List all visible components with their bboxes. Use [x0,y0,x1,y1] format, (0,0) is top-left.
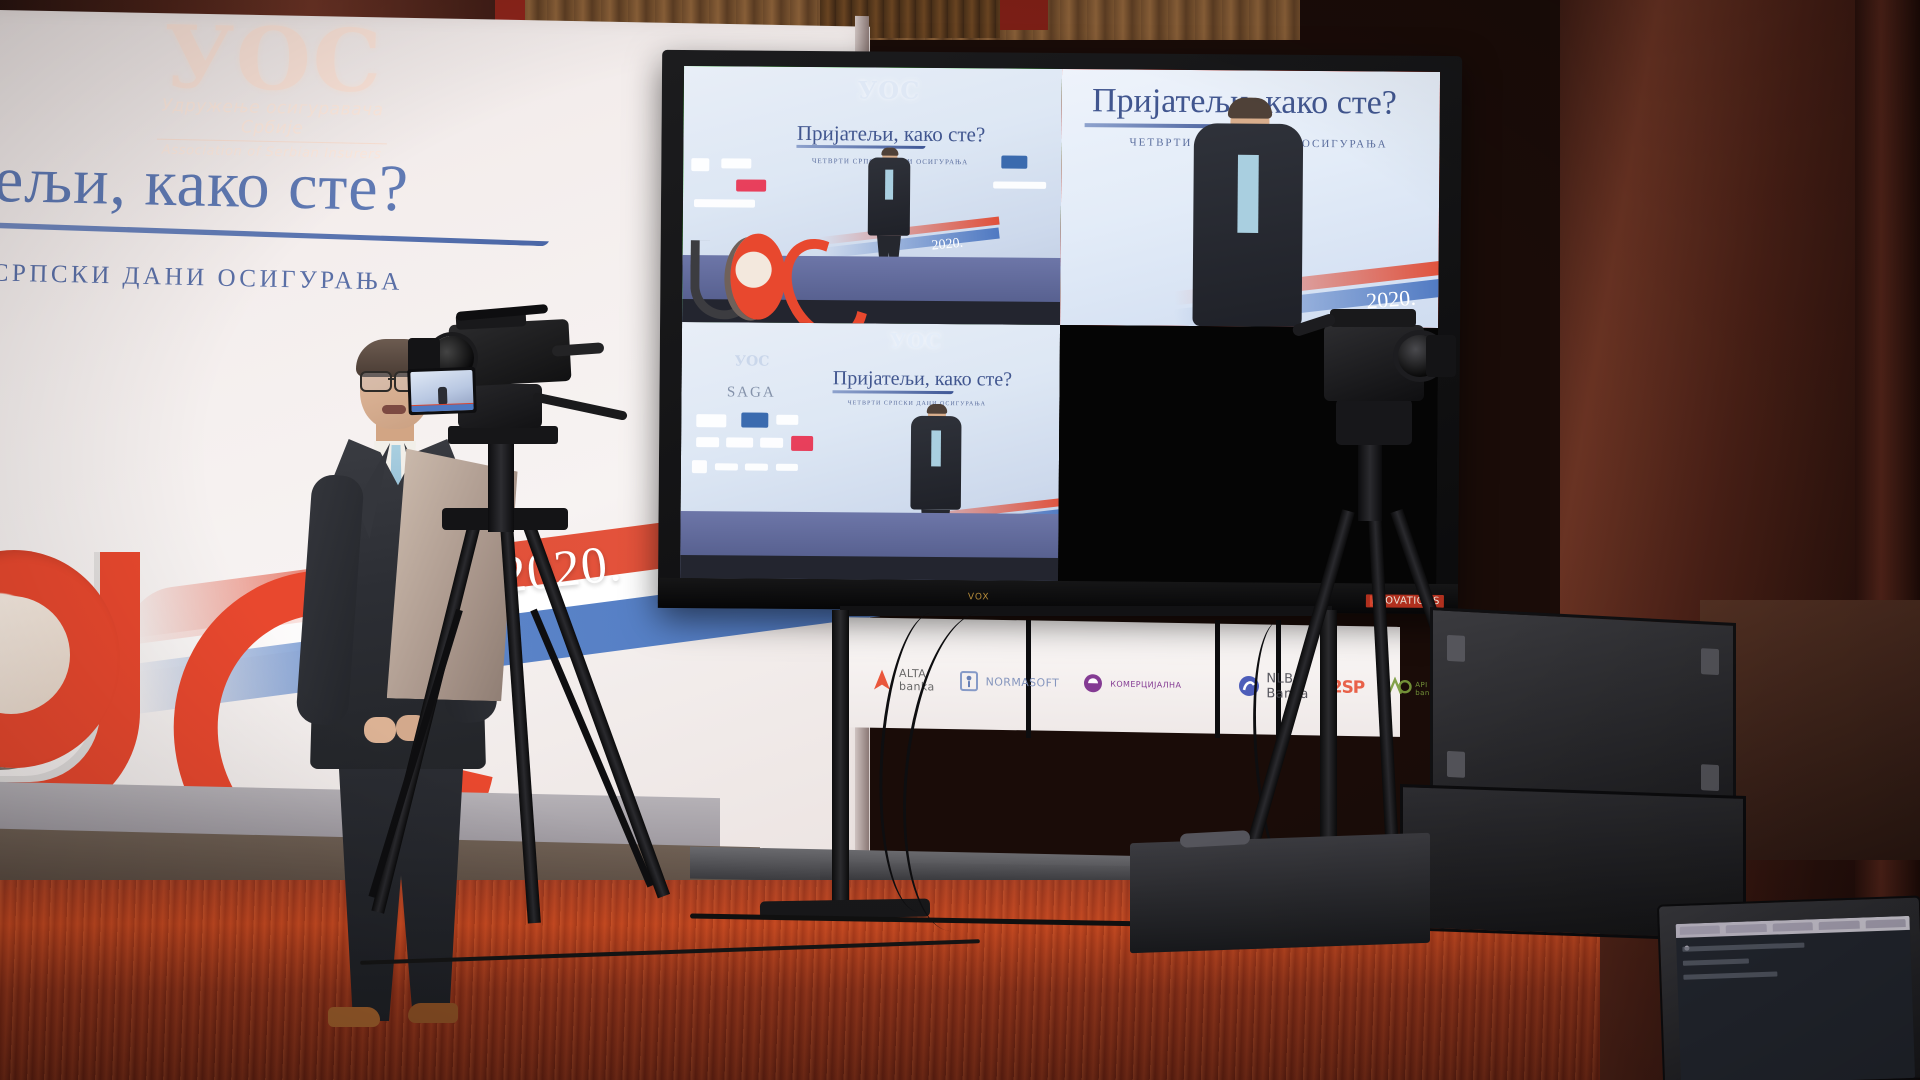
laptop-tab-strip [1676,916,1910,935]
feed-presenter-tie [1238,155,1259,233]
tripod-leg [522,522,670,899]
feed-sponsor-block [775,464,798,472]
center-camera-rig [400,310,760,890]
laptop-screen[interactable] [1676,916,1916,1080]
laptop-content-row [1682,943,1804,952]
video-feed-close-shot: Пријатељи, како сте? ЧЕТВРТИ СРПСКИ ДАНИ… [1060,69,1440,328]
feed-presenter [1193,97,1304,327]
feed-sponsor-block [691,158,710,171]
laptop-tab[interactable] [1772,922,1813,931]
presenter-shoe-left [328,1007,380,1027]
video-pane-top-left[interactable]: УОС Пријатељи, како сте? ЧЕТВРТИ СРПСКИ … [682,66,1062,325]
tripod-leg-brace [530,609,654,888]
feed-letter-c [765,224,885,325]
feed-presenter-body [1193,123,1304,327]
feed-sponsor-block [993,181,1046,189]
camera-lcd-stripe-blue [412,404,474,412]
feed-presenter-hair [927,403,947,413]
video-pane-top-right[interactable]: Пријатељи, како сте? ЧЕТВРТИ СРПСКИ ДАНИ… [1060,69,1440,328]
laptop-content-row [1683,959,1749,966]
laptop-content-row [1683,972,1777,980]
feed-sponsor-block [760,438,783,448]
eyeglasses-bridge-icon [388,378,395,380]
tripod-fluid-head [1336,399,1412,445]
stage-scene: УОС Удружење осигуравача Србије Associat… [0,0,1920,1080]
control-laptop[interactable] [1657,895,1920,1080]
sponsor-logo-komercijalna: КОМЕРЦИЈАЛНА [1081,671,1181,697]
tripod-pan-handle[interactable] [532,392,628,421]
feed-year: 2020. [931,236,964,255]
equipment-case [1130,833,1430,953]
uos-logo-serbian-line: Удружење осигуравача Србије [127,95,418,141]
feed-title: Пријатељи, како сте? [797,121,985,147]
laptop-tab[interactable] [1819,921,1860,930]
feed-title: Пријатељи, како сте? [833,367,1012,391]
feed-presenter-tie [932,430,942,466]
monitor-stand-crossbar [840,606,1332,616]
feed-uos-logo: УОС [858,75,921,104]
feed-presenter-hair [881,148,898,156]
case-latch[interactable] [1447,751,1465,778]
feed-sponsor-block [791,436,814,452]
feed-presenter-hair [1227,98,1271,119]
laptop-tab[interactable] [1680,925,1721,934]
feed-sponsor-block [736,179,766,192]
feed-presenter-body [911,415,962,509]
video-feed-wide-shot: УОС Пријатељи, како сте? ЧЕТВРТИ СРПСКИ … [682,66,1062,325]
uos-logo: УОС Удружење осигуравача Србије Associat… [127,15,420,163]
feed-sponsor-block [694,199,755,207]
laptop-tab[interactable] [1726,924,1767,933]
tripod-leg [500,524,541,924]
tripod-plate [448,426,558,444]
tripod-column [488,440,514,532]
feed-sponsor-block [721,158,751,168]
laptop-tab[interactable] [1865,919,1906,928]
feed-sponsor-block [1001,156,1028,169]
camera-lens-hood [1426,335,1456,377]
camera-microphone [552,342,605,357]
letter-o-inner [0,596,70,714]
case-latch[interactable] [1701,764,1719,791]
eyeglasses-icon [360,371,392,392]
feed-presenter-tie [885,170,893,200]
camera-lcd-monitor[interactable] [407,367,477,415]
feed-letter-o [730,234,786,320]
feed-title-rule [833,390,954,394]
uos-logo-mark: УОС [128,15,420,105]
monitor-stand-leg-left [832,610,849,910]
camera-top-plate [1330,309,1416,327]
room-door [1000,0,1048,30]
feed-sponsor-block [776,415,799,425]
case-latch[interactable] [1447,635,1465,662]
komercijalna-circle-icon [1081,671,1105,695]
presenter-shoe-right [408,1003,458,1023]
sponsor-label: КОМЕРЦИЈАЛНА [1110,679,1181,689]
monitor-brand-label: VOX [968,592,990,602]
laptop-titlebar [1676,916,1910,938]
presenter-hand-left [364,717,396,743]
case-latch[interactable] [1701,648,1719,675]
feed-uos-logo: УОС [890,329,943,353]
tripod-column [1358,441,1382,521]
camera-lcd-screen [410,370,473,412]
